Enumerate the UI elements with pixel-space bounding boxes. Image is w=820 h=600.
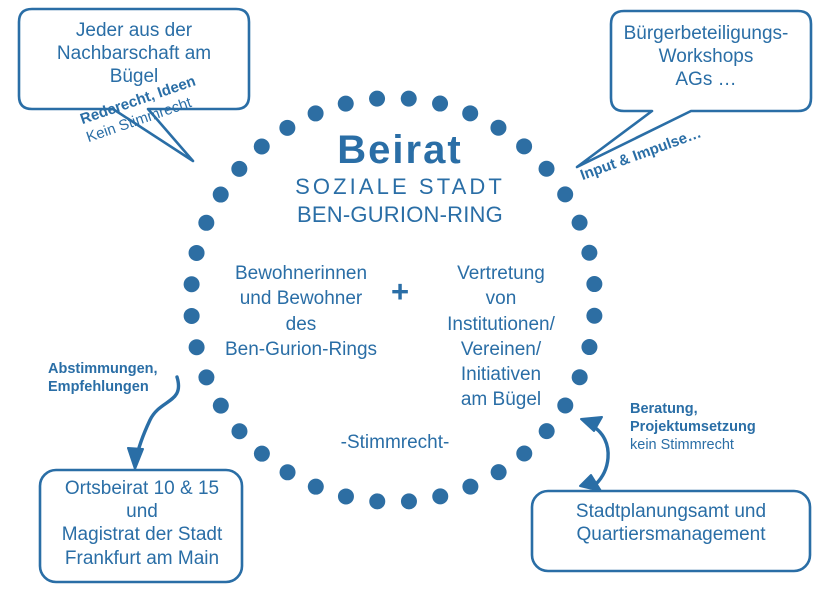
ring-dot	[189, 339, 205, 355]
members-residents-column: Bewohnerinnen und Bewohner des Ben-Gurio…	[215, 261, 387, 362]
ring-dot	[308, 479, 324, 495]
ring-dot	[432, 488, 448, 504]
ring-dot	[539, 161, 555, 177]
ring-dot	[557, 186, 573, 202]
ring-dot	[462, 479, 478, 495]
ring-dot	[572, 215, 588, 231]
ring-dot	[586, 308, 602, 324]
ring-dot	[198, 215, 214, 231]
subtitle-soziale-stadt: SOZIALE STADT	[260, 174, 540, 201]
ring-dot	[213, 398, 229, 414]
box-bottom-right-label: Stadtplanungsamt und Quartiersmanagement	[536, 500, 806, 546]
ring-dot	[401, 91, 417, 107]
ring-dot	[462, 105, 478, 121]
ring-dot	[184, 308, 200, 324]
ring-dot	[581, 245, 597, 261]
ring-dot	[539, 423, 555, 439]
plus-icon: +	[384, 276, 416, 307]
annotation-bottom-left: Abstimmungen, Empfehlungen	[48, 360, 228, 396]
diagram-canvas: Beirat SOZIALE STADT BEN-GURION-RING Bew…	[0, 0, 820, 600]
ring-dot	[369, 91, 385, 107]
ring-dot	[338, 96, 354, 112]
annotation-bottom-right-bold: Beratung, Projektumsetzung	[630, 400, 820, 436]
ring-dot	[184, 276, 200, 292]
ring-dot	[491, 464, 507, 480]
ring-dot	[338, 488, 354, 504]
box-bottom-left-label: Ortsbeirat 10 & 15 und Magistrat der Sta…	[44, 477, 240, 570]
members-institutions-column: Vertretung von Institutionen/ Vereinen/ …	[427, 261, 575, 413]
voting-rights-note: -Stimmrecht-	[300, 431, 490, 454]
annotation-bottom-right-normal: kein Stimmrecht	[630, 436, 820, 454]
ring-dot	[189, 245, 205, 261]
ring-dot	[401, 493, 417, 509]
ring-dot	[586, 276, 602, 292]
subtitle-ben-gurion-ring: BEN-GURION-RING	[260, 202, 540, 229]
ring-dot	[231, 161, 247, 177]
annotation-bottom-left-bold: Abstimmungen, Empfehlungen	[48, 360, 228, 396]
ring-dot	[369, 493, 385, 509]
arrowhead-down	[128, 448, 143, 469]
ring-dot	[432, 96, 448, 112]
ring-dot	[213, 187, 229, 203]
ring-dot	[280, 464, 296, 480]
ring-dot	[231, 423, 247, 439]
callout-top-right-label: Bürgerbeteiligungs- Workshops AGs …	[606, 22, 806, 92]
ring-dot	[516, 446, 532, 462]
ring-dot	[581, 339, 597, 355]
arrow-ring-to-stadtplanungsamt	[580, 417, 608, 491]
ring-dot	[308, 105, 324, 121]
page-title: Beirat	[260, 126, 540, 175]
annotation-bottom-right: Beratung, Projektumsetzung kein Stimmrec…	[630, 400, 820, 454]
ring-dot	[254, 446, 270, 462]
